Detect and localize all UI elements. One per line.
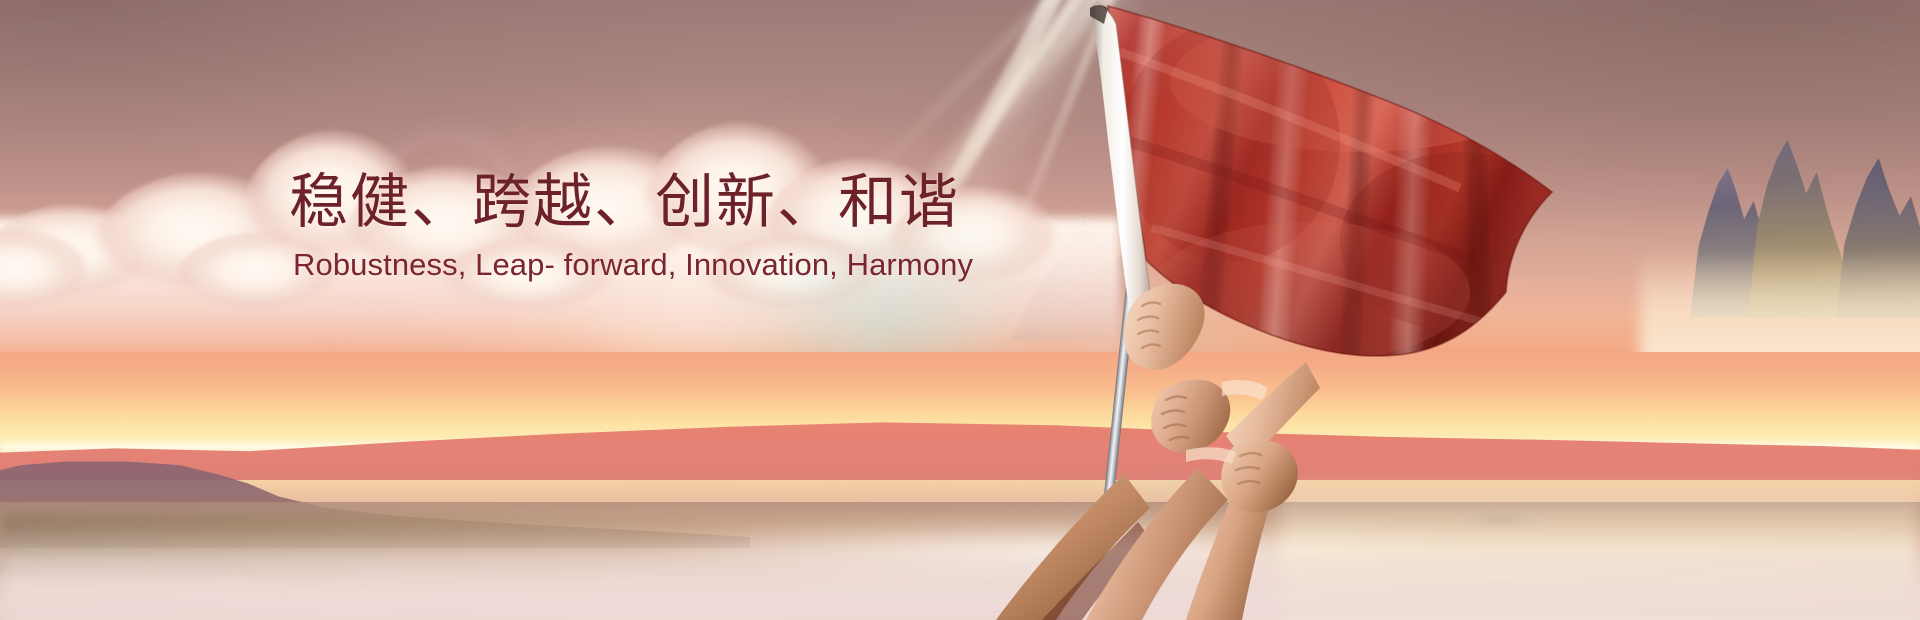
- banner-copy: 稳健、跨越、创新、和谐 Robustness, Leap- forward, I…: [289, 172, 929, 283]
- sunset-landscape: [0, 352, 1920, 620]
- hand-top-grip: [1124, 284, 1205, 370]
- foreground-haze: [0, 556, 1920, 620]
- hand-lower-right-grip: [1221, 440, 1298, 513]
- page-subtitle: Robustness, Leap- forward, Innovation, H…: [293, 246, 929, 283]
- wrist-highlight-2: [1222, 380, 1268, 400]
- hand-middle-grip: [1151, 380, 1230, 453]
- raised-hands: [990, 250, 1320, 620]
- wrist-highlight-1: [1186, 447, 1236, 464]
- page-title: 稳健、跨越、创新、和谐: [289, 172, 929, 234]
- hero-banner: 稳健、跨越、创新、和谐 Robustness, Leap- forward, I…: [0, 0, 1920, 620]
